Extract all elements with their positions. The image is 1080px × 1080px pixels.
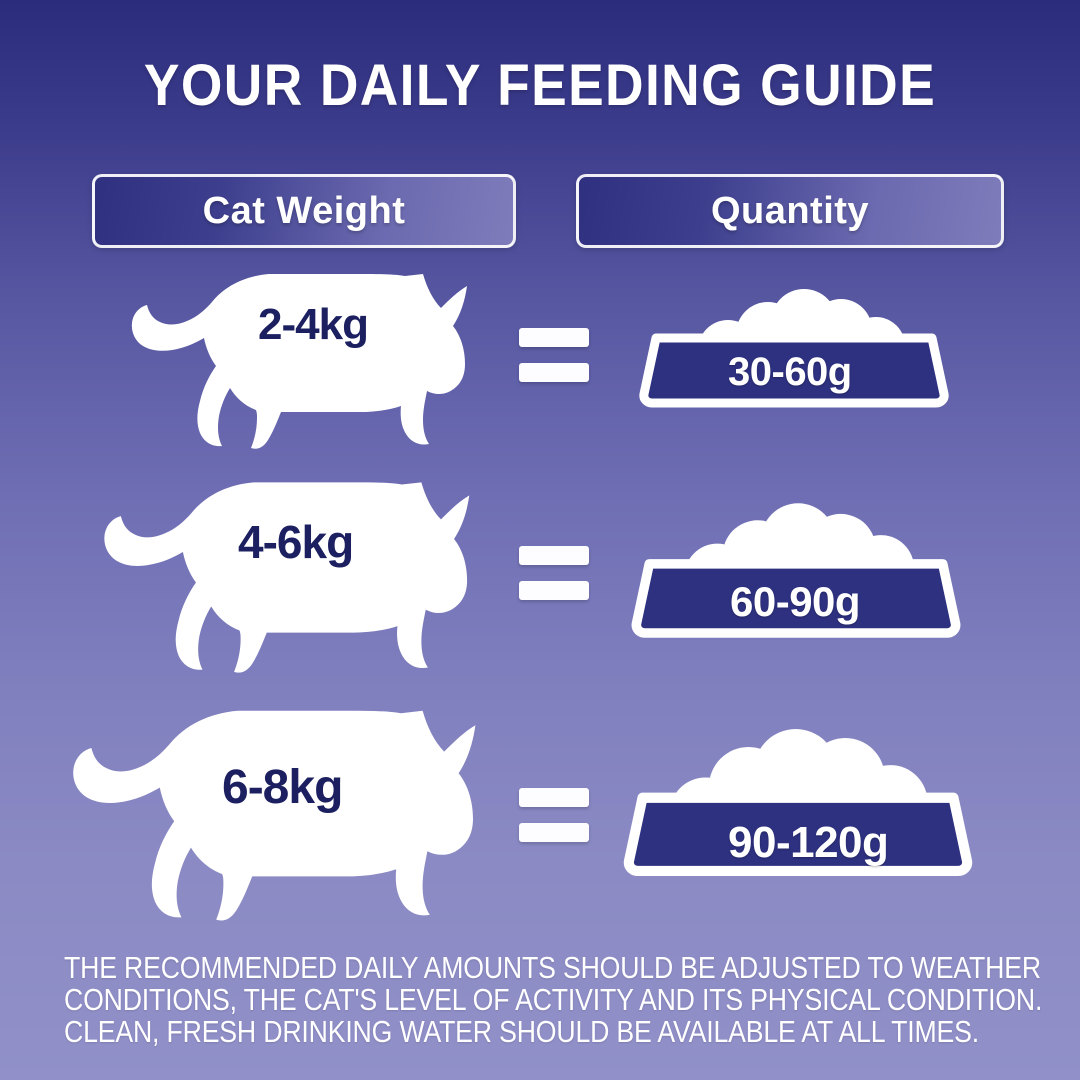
cat-weight-value: 2-4kg [258, 300, 368, 350]
cat-silhouette-icon [72, 478, 492, 674]
disclaimer-line-3: CLEAN, FRESH DRINKING WATER SHOULD BE AV… [64, 1016, 886, 1048]
equals-sign-icon [519, 328, 593, 382]
equals-sign-icon [519, 546, 593, 600]
equals-bar-bottom [519, 363, 589, 382]
cat-silhouette-icon [105, 270, 485, 450]
header-cat-weight-label: Cat Weight [203, 190, 406, 233]
header-cat-weight: Cat Weight [92, 174, 516, 248]
equals-bar-top [519, 328, 589, 347]
column-headers: Cat Weight Quantity [0, 174, 1080, 248]
feeding-row: 2-4kg 30-60g [0, 262, 1080, 462]
equals-bar-top [519, 546, 589, 565]
page-title: YOUR DAILY FEEDING GUIDE [43, 52, 1037, 119]
equals-sign-icon [519, 788, 593, 842]
cat-weight-value: 6-8kg [222, 760, 342, 815]
disclaimer-line-2: CONDITIONS, THE CAT'S LEVEL OF ACTIVITY … [64, 984, 886, 1016]
cat-weight-value: 4-6kg [238, 515, 353, 569]
equals-bar-bottom [519, 581, 589, 600]
header-quantity: Quantity [576, 174, 1004, 248]
feeding-row: 4-6kg 60-90g [0, 470, 1080, 682]
disclaimer-text: THE RECOMMENDED DAILY AMOUNTS SHOULD BE … [64, 952, 886, 1048]
quantity-value: 30-60g [728, 350, 852, 395]
quantity-value: 90-120g [728, 818, 888, 868]
equals-bar-bottom [519, 823, 589, 842]
quantity-value: 60-90g [730, 578, 860, 626]
disclaimer-line-1: THE RECOMMENDED DAILY AMOUNTS SHOULD BE … [64, 952, 886, 984]
header-quantity-label: Quantity [711, 190, 869, 233]
equals-bar-top [519, 788, 589, 807]
feeding-row: 6-8kg 90-120g [0, 700, 1080, 935]
